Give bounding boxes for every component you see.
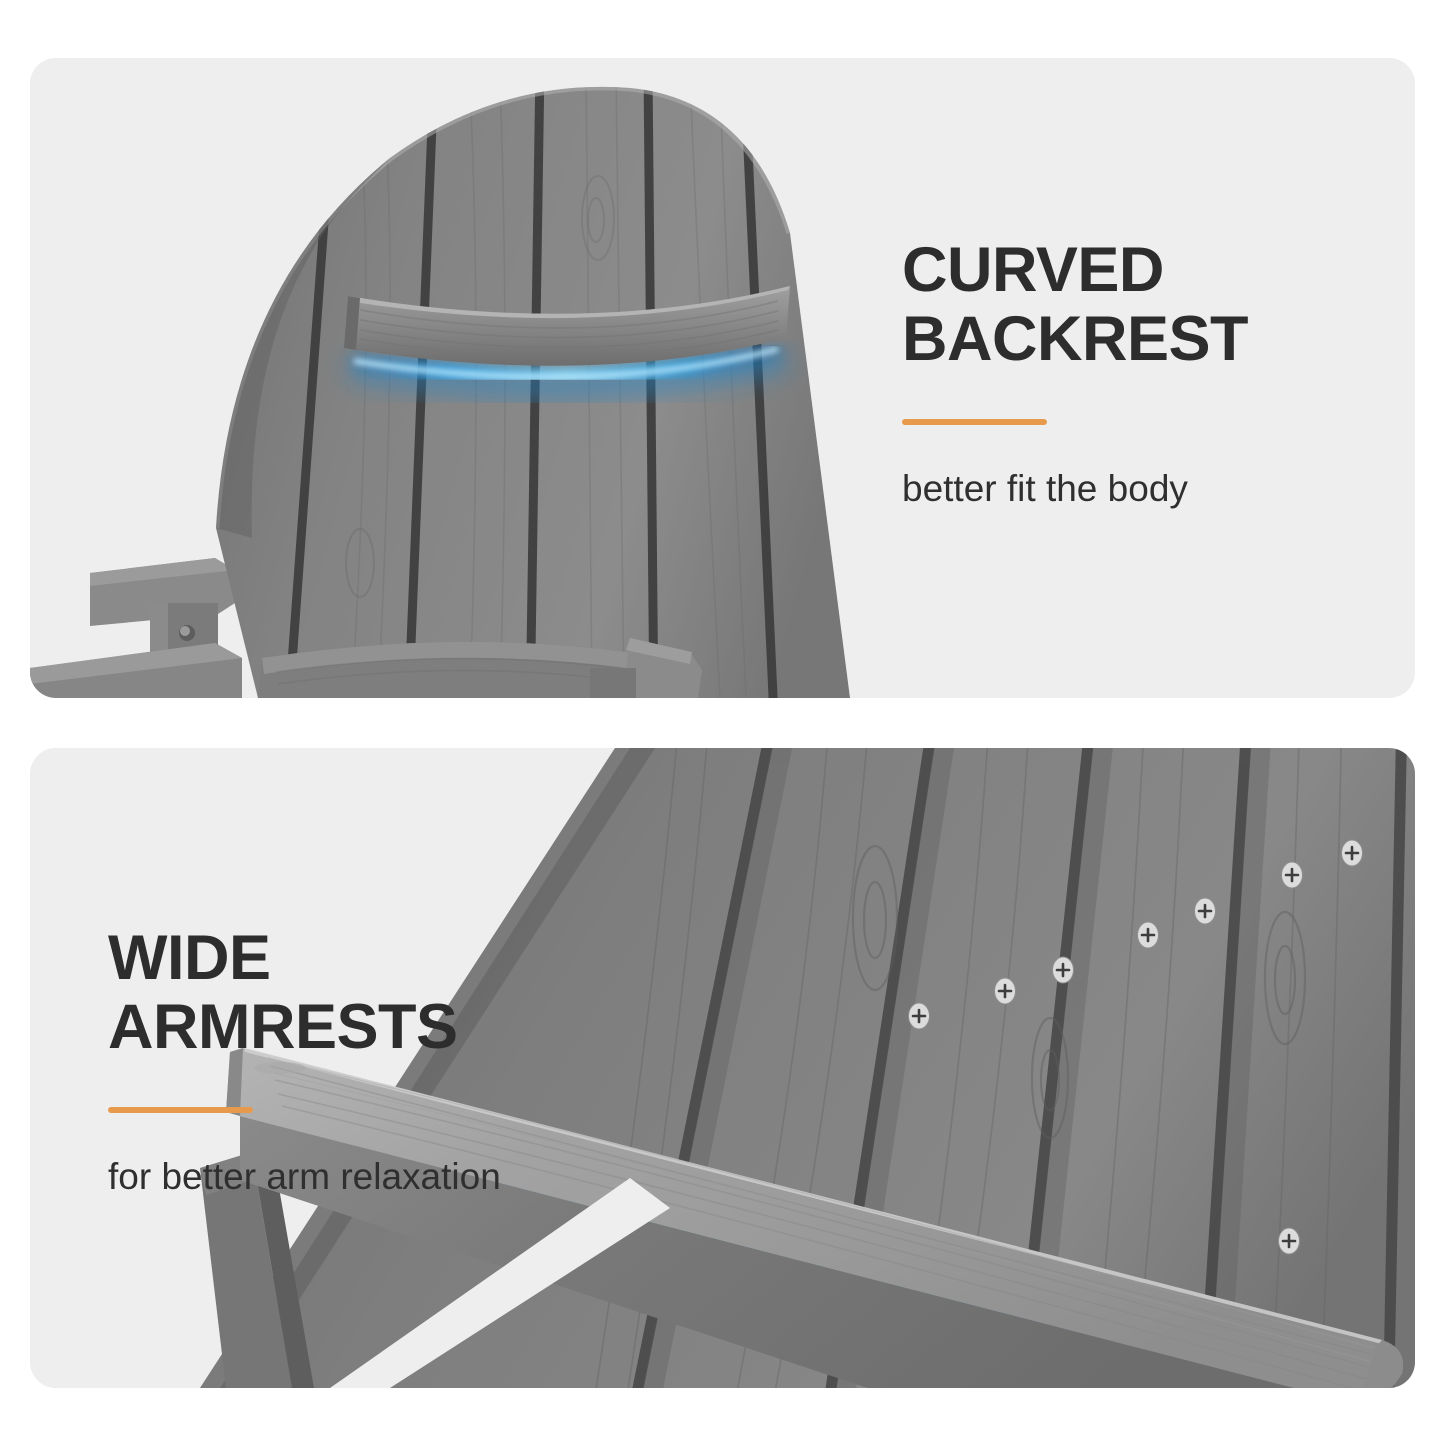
feature-panel-wide-armrests: WIDE ARMRESTS for better arm relaxation xyxy=(30,748,1415,1388)
feature-text-block-top: CURVED BACKREST better fit the body xyxy=(902,236,1372,511)
feature-text-block-bottom: WIDE ARMRESTS for better arm relaxation xyxy=(108,924,648,1199)
feature-subtitle: better fit the body xyxy=(902,467,1372,511)
feature-panel-curved-backrest: CURVED BACKREST better fit the body xyxy=(30,58,1415,698)
feature-title: WIDE ARMRESTS xyxy=(108,924,648,1063)
feature-subtitle: for better arm relaxation xyxy=(108,1155,648,1199)
accent-divider xyxy=(108,1107,253,1113)
accent-divider xyxy=(902,419,1047,425)
feature-title: CURVED BACKREST xyxy=(902,236,1372,375)
infographic-page: CURVED BACKREST better fit the body xyxy=(0,0,1445,1445)
